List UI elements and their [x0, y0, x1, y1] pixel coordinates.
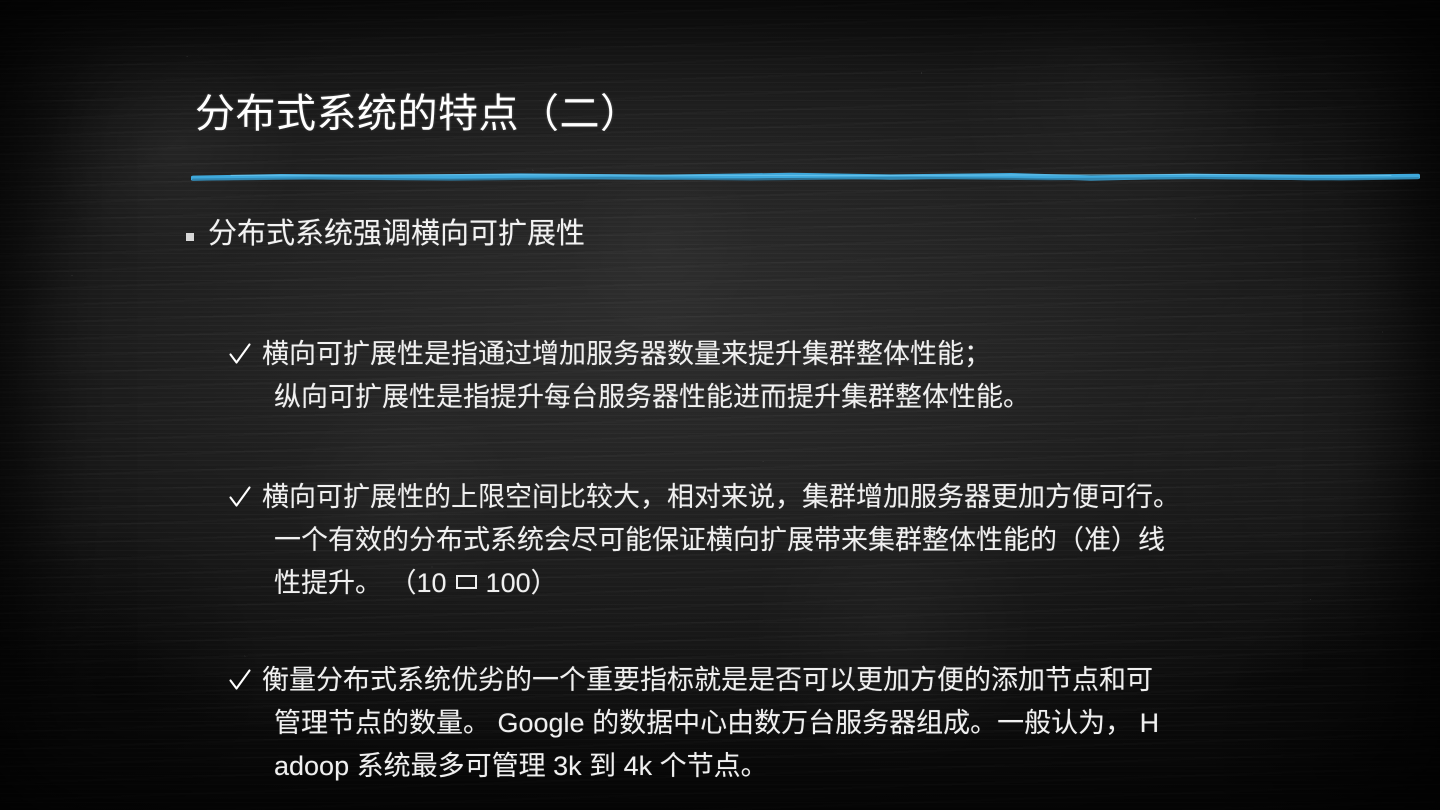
sub-bullet-1-text: 横向可扩展性是指通过增加服务器数量来提升集群整体性能； 纵向可扩展性是指提升每台… [262, 333, 1030, 419]
title-underline [191, 171, 1420, 185]
bullet-level1-label: 分布式系统强调横向可扩展性 [208, 215, 585, 254]
missing-glyph-box-icon [456, 575, 477, 589]
slide-canvas: 分布式系统的特点（二） 分布式系统强调横向可扩展性 横向可扩展性是指通过增加服务… [0, 0, 1440, 810]
check-icon [229, 342, 251, 368]
sub-bullet-1-line-1: 横向可扩展性是指通过增加服务器数量来提升集群整体性能； [262, 333, 1030, 376]
sub-bullet-2-text: 横向可扩展性的上限空间比较大，相对来说，集群增加服务器更加方便可行。 一个有效的… [262, 476, 1180, 605]
sub-bullet-3-line-1: 衡量分布式系统优劣的一个重要指标就是是否可以更加方便的添加节点和可 [262, 659, 1159, 702]
sub-bullet-3-text: 衡量分布式系统优劣的一个重要指标就是是否可以更加方便的添加节点和可 管理节点的数… [262, 659, 1159, 788]
sub-bullet-1-line-2: 纵向可扩展性是指提升每台服务器性能进而提升集群整体性能。 [262, 376, 1030, 419]
blue-chalk-underline-icon [191, 171, 1420, 185]
sub-bullet-3-line-3: adoop 系统最多可管理 3k 到 4k 个节点。 [262, 745, 1159, 788]
sub-bullet-2-line-2: 一个有效的分布式系统会尽可能保证横向扩展带来集群整体性能的（准）线 [262, 519, 1180, 562]
check-icon [229, 485, 251, 511]
sub-bullet-2-line-3-prefix: 性提升。 （10 [274, 568, 447, 598]
sub-bullet-2-line-3-suffix: 100） [486, 568, 558, 598]
sub-bullet-2: 横向可扩展性的上限空间比较大，相对来说，集群增加服务器更加方便可行。 一个有效的… [229, 476, 1180, 605]
square-bullet-icon [186, 233, 194, 241]
page-title: 分布式系统的特点（二） [195, 89, 641, 139]
bullet-level1: 分布式系统强调横向可扩展性 [186, 215, 585, 254]
check-icon [229, 668, 251, 694]
sub-bullet-2-line-3: 性提升。 （10100） [262, 562, 1180, 605]
sub-bullet-3: 衡量分布式系统优劣的一个重要指标就是是否可以更加方便的添加节点和可 管理节点的数… [229, 659, 1159, 788]
sub-bullet-2-line-1: 横向可扩展性的上限空间比较大，相对来说，集群增加服务器更加方便可行。 [262, 476, 1180, 519]
sub-bullet-1: 横向可扩展性是指通过增加服务器数量来提升集群整体性能； 纵向可扩展性是指提升每台… [229, 333, 1030, 419]
sub-bullet-3-line-2: 管理节点的数量。 Google 的数据中心由数万台服务器组成。一般认为， H [262, 702, 1159, 745]
slide-content: 分布式系统的特点（二） 分布式系统强调横向可扩展性 横向可扩展性是指通过增加服务… [0, 0, 1440, 810]
